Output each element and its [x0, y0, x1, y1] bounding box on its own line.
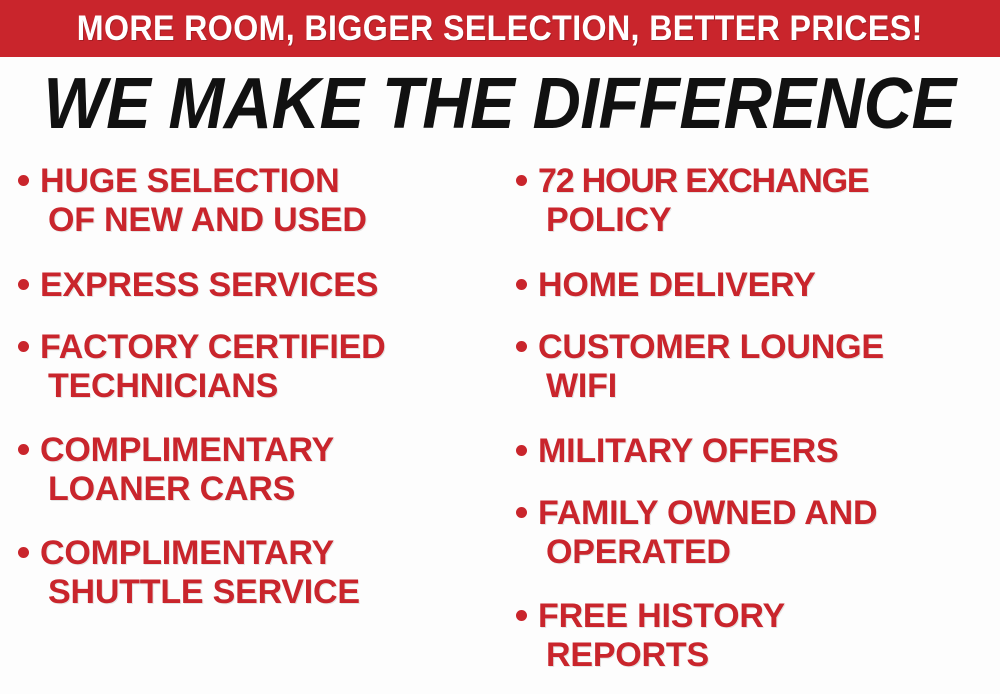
page-title: WE MAKE THE DIFFERENCE [44, 68, 956, 140]
list-item-text: COMPLIMENTARY LOANER CARS [40, 431, 334, 509]
list-item: COMPLIMENTARY SHUTTLE SERVICE [18, 534, 494, 612]
bullet-dot-icon [18, 547, 29, 558]
list-item-line2: OF NEW AND USED [40, 201, 367, 240]
list-item: CUSTOMER LOUNGE WIFI [516, 328, 994, 406]
list-item: HOME DELIVERY [516, 266, 994, 305]
bullet-dot-icon [516, 175, 527, 186]
list-item-line2: WIFI [538, 367, 884, 406]
list-item-text: HUGE SELECTION OF NEW AND USED [40, 162, 367, 240]
bullet-dot-icon [18, 175, 29, 186]
list-item-line1: FACTORY CERTIFIED [40, 328, 385, 366]
promo-banner: MORE ROOM, BIGGER SELECTION, BETTER PRIC… [0, 0, 1000, 57]
list-item-line1: CUSTOMER LOUNGE [538, 328, 884, 366]
list-item-text: COMPLIMENTARY SHUTTLE SERVICE [40, 534, 360, 612]
list-item: COMPLIMENTARY LOANER CARS [18, 431, 494, 509]
list-item: 72 HOUR EXCHANGE POLICY [516, 162, 994, 240]
list-item-text: HOME DELIVERY [538, 266, 816, 305]
list-item-text: MILITARY OFFERS [538, 432, 838, 471]
features-column-left: HUGE SELECTION OF NEW AND USED EXPRESS S… [0, 156, 500, 694]
bullet-dot-icon [18, 341, 29, 352]
bullet-dot-icon [18, 279, 29, 290]
bullet-dot-icon [516, 279, 527, 290]
list-item-line2: LOANER CARS [40, 470, 334, 509]
list-item-line1: COMPLIMENTARY [40, 534, 334, 572]
list-item-line1: 72 HOUR EXCHANGE [538, 162, 868, 200]
list-item-text: FACTORY CERTIFIED TECHNICIANS [40, 328, 385, 406]
features-columns: HUGE SELECTION OF NEW AND USED EXPRESS S… [0, 156, 1000, 694]
list-item: MILITARY OFFERS [516, 432, 994, 471]
list-item-line2: POLICY [538, 201, 868, 240]
list-item: FAMILY OWNED AND OPERATED [516, 494, 994, 572]
bullet-dot-icon [516, 341, 527, 352]
bullet-dot-icon [516, 507, 527, 518]
list-item-text: FREE HISTORY REPORTS [538, 597, 785, 675]
list-item-line2: SHUTTLE SERVICE [40, 573, 360, 612]
list-item: EXPRESS SERVICES [18, 266, 494, 305]
bullet-dot-icon [516, 445, 527, 456]
list-item-line2: REPORTS [538, 636, 785, 675]
list-item-text: EXPRESS SERVICES [40, 266, 378, 305]
list-item-line1: FREE HISTORY [538, 597, 785, 635]
list-item: HUGE SELECTION OF NEW AND USED [18, 162, 494, 240]
features-column-right: 72 HOUR EXCHANGE POLICY HOME DELIVERY CU… [500, 156, 1000, 694]
list-item-line2: TECHNICIANS [40, 367, 385, 406]
list-item-line1: EXPRESS SERVICES [40, 266, 378, 304]
list-item-line1: FAMILY OWNED AND [538, 494, 877, 532]
promo-banner-text: MORE ROOM, BIGGER SELECTION, BETTER PRIC… [77, 11, 923, 46]
bullet-dot-icon [18, 444, 29, 455]
bullet-dot-icon [516, 610, 527, 621]
list-item-line2: OPERATED [538, 533, 877, 572]
list-item-line1: COMPLIMENTARY [40, 431, 334, 469]
list-item-line1: HUGE SELECTION [40, 162, 339, 200]
list-item: FACTORY CERTIFIED TECHNICIANS [18, 328, 494, 406]
list-item-line1: MILITARY OFFERS [538, 432, 838, 470]
list-item: FREE HISTORY REPORTS [516, 597, 994, 675]
list-item-line1: HOME DELIVERY [538, 266, 816, 304]
list-item-text: CUSTOMER LOUNGE WIFI [538, 328, 884, 406]
headline-container: WE MAKE THE DIFFERENCE [0, 62, 1000, 146]
list-item-text: FAMILY OWNED AND OPERATED [538, 494, 877, 572]
list-item-text: 72 HOUR EXCHANGE POLICY [538, 162, 868, 240]
